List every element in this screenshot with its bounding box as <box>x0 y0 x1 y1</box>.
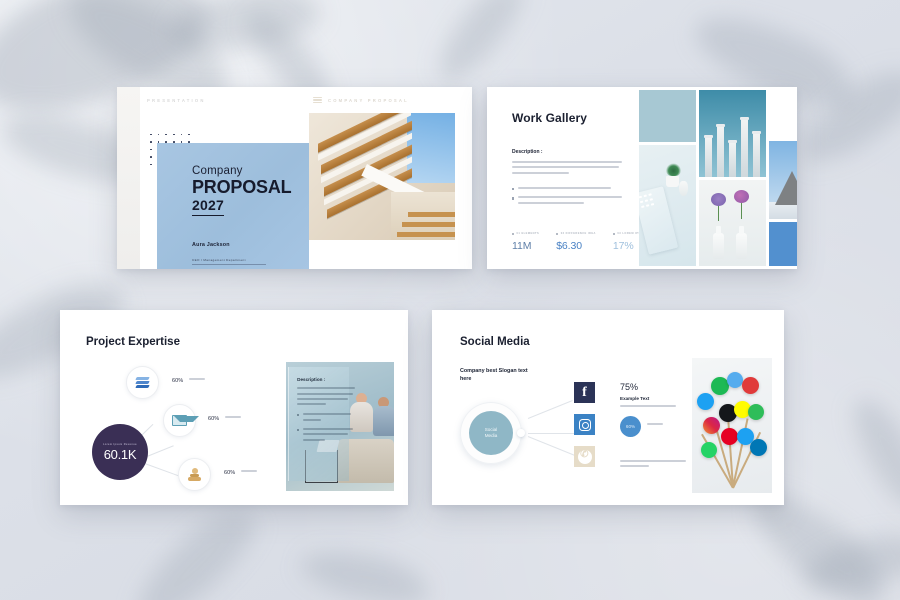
expertise-hub: Lorem Ipsum Revenue 60.1K <box>92 424 148 480</box>
gallery-paragraph <box>512 161 622 177</box>
gallery-stats-row: 01 ELEMENTS 11M 02 DIFFERENCE IDEA $6.30… <box>512 232 658 252</box>
wechat-balloon <box>748 404 764 420</box>
slide-social-media[interactable]: Social Media Company best Slogan text he… <box>432 310 784 505</box>
slide-cover[interactable]: PRESENTATION COMPANY PROPOSAL Company PR… <box>117 87 472 269</box>
node-stat-2: 60% <box>208 416 241 422</box>
node-mail[interactable] <box>163 404 196 437</box>
solid-teal-tile <box>639 90 696 142</box>
cover-header: PRESENTATION COMPANY PROPOSAL <box>117 87 472 113</box>
social-footer-note <box>620 460 686 471</box>
facebook-icon[interactable]: f <box>574 382 595 403</box>
white-tile <box>769 90 797 138</box>
instagram-icon[interactable] <box>574 414 595 435</box>
mail-icon <box>172 415 187 426</box>
layers-icon <box>136 377 149 389</box>
stat-item: 02 DIFFERENCE IDEA $6.30 <box>556 232 596 252</box>
list-item <box>512 196 624 207</box>
linkedin-balloon <box>750 439 767 456</box>
cover-title-year: 2027 <box>192 198 224 215</box>
bullet-icon <box>297 429 299 431</box>
connector-line <box>528 400 573 419</box>
youtube-balloon <box>742 377 759 394</box>
expertise-title: Project Expertise <box>86 336 180 348</box>
connector-line <box>528 433 576 434</box>
node-percent: 60% <box>208 416 219 422</box>
social-balloons-photo <box>692 358 772 493</box>
hub-connector-knob <box>517 429 525 437</box>
cover-author-name: Aura Jackson <box>192 242 299 248</box>
node-percent: 60% <box>224 470 235 476</box>
expertise-bullet-list <box>297 413 355 448</box>
white-columns-photo <box>699 90 766 177</box>
social-hub-core: Social Media <box>469 411 513 455</box>
cover-title-line2: PROPOSAL <box>192 178 299 197</box>
gallery-image-grid <box>639 87 797 269</box>
bullet-icon <box>297 414 299 416</box>
a-frame-building-photo <box>769 141 797 219</box>
connector-line <box>528 436 577 456</box>
gallery-description-label: Description : <box>512 149 543 155</box>
node-money[interactable] <box>178 458 211 491</box>
bullet-icon <box>512 188 514 190</box>
social-hub: Social Media <box>460 402 522 464</box>
hamburger-icon[interactable] <box>313 97 322 104</box>
stat-value: 11M <box>512 240 539 252</box>
gallery-column-1 <box>639 90 696 266</box>
social-title: Social Media <box>460 336 530 348</box>
social-bubble-label <box>647 423 663 428</box>
node-stat-3: 60% <box>224 470 257 476</box>
stat-value: $6.30 <box>556 240 596 252</box>
cover-author-role: CEO / Management Department <box>192 258 266 265</box>
solid-blue-tile <box>769 222 797 266</box>
keyboard-desk-photo <box>639 145 696 266</box>
pinterest-balloon <box>721 428 738 445</box>
expertise-node-diagram: Lorem Ipsum Revenue 60.1K 60% 60% 60% <box>78 362 283 492</box>
stat-label: 01 ELEMENTS <box>517 232 540 235</box>
bullet-icon <box>512 197 514 199</box>
list-item <box>297 413 355 424</box>
hub-line2: Media <box>485 433 498 439</box>
cover-kicker: PRESENTATION <box>147 98 206 103</box>
stat-item: 01 ELEMENTS 11M <box>512 232 539 252</box>
node-stat-1: 60% <box>172 378 205 384</box>
glass-overlay: Description : <box>288 367 348 481</box>
social-stat-note <box>620 405 676 410</box>
gallery-column-3 <box>769 90 797 266</box>
whatsapp-balloon <box>701 442 717 458</box>
flowers-vases-photo <box>699 180 766 267</box>
twitter-balloon <box>727 372 743 388</box>
list-item <box>512 187 624 192</box>
cover-left-strip <box>117 87 140 269</box>
cover-header-right: COMPANY PROPOSAL <box>313 97 409 104</box>
list-item <box>297 428 355 444</box>
node-percent: 60% <box>172 378 183 384</box>
whatsapp-icon[interactable] <box>574 446 595 467</box>
cover-brand: COMPANY PROPOSAL <box>328 98 409 103</box>
social-stat-percent: 75% <box>620 382 638 392</box>
gallery-bullet-list <box>512 187 624 211</box>
expertise-description-label: Description : <box>297 377 325 382</box>
stat-label: 02 DIFFERENCE IDEA <box>561 232 596 235</box>
node-layers[interactable] <box>126 366 159 399</box>
social-slogan: Company best Slogan text here <box>460 368 538 384</box>
slide-project-expertise[interactable]: Project Expertise Lorem Ipsum Revenue 60… <box>60 310 408 505</box>
cover-title-panel: Company PROPOSAL 2027 Aura Jackson CEO /… <box>157 143 309 269</box>
slide-work-gallery[interactable]: Work Gallery Description : 01 ELEMENTS 1… <box>487 87 797 269</box>
gallery-title: Work Gallery <box>512 111 587 125</box>
hub-sublabel: Lorem Ipsum Revenue <box>103 443 137 446</box>
money-bag-icon <box>187 468 202 481</box>
staircase-photo <box>309 113 455 240</box>
social-stat-label: Example Text <box>620 396 649 401</box>
expertise-paragraph <box>297 387 355 409</box>
gallery-column-2 <box>699 90 766 266</box>
social-bubble-percent: 60% <box>620 416 641 437</box>
meeting-photo: Description : <box>286 362 394 491</box>
hub-value: 60.1K <box>104 447 136 462</box>
twitter-balloon <box>697 393 714 410</box>
